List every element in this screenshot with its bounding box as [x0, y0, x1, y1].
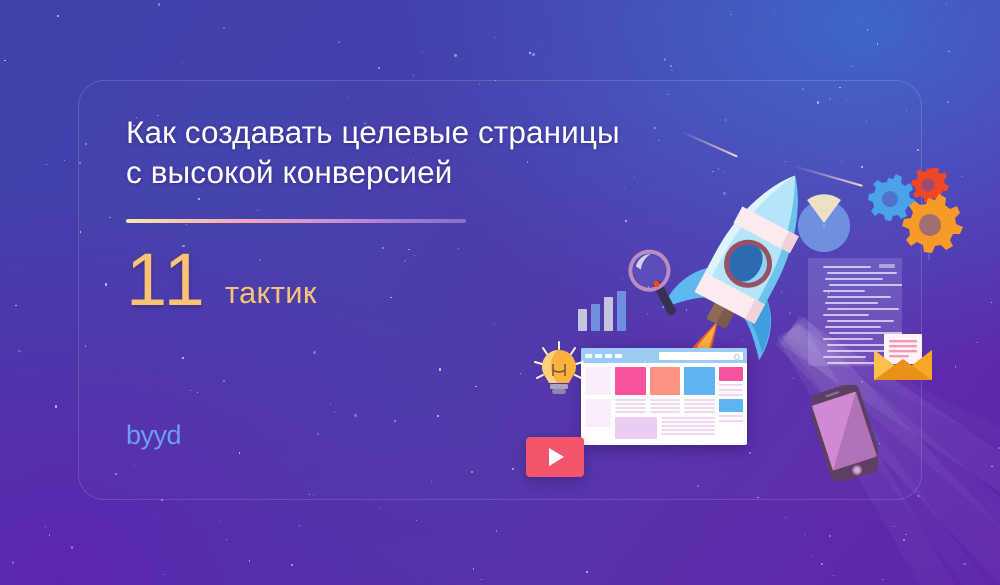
mockup-search-input: [659, 352, 743, 360]
title-line-2: с высокой конверсией: [126, 152, 656, 192]
lightbulb-icon: [528, 340, 590, 402]
play-triangle-icon: [549, 448, 564, 466]
code-line: [825, 278, 883, 280]
code-line: [827, 320, 894, 322]
gradient-divider: [126, 219, 466, 223]
mockup-header: [581, 348, 747, 363]
code-line: [823, 290, 865, 292]
code-line: [825, 302, 878, 304]
mockup-nav-item: [595, 354, 602, 358]
play-button[interactable]: [526, 437, 584, 477]
code-line: [829, 284, 902, 286]
mockup-text-col: [661, 417, 715, 439]
mockup-body: [581, 363, 747, 445]
smartphone-icon: [812, 385, 878, 481]
mockup-nav-item: [605, 354, 612, 358]
tactics-word: тактик: [225, 275, 317, 311]
code-line: [825, 326, 881, 328]
mockup-card: [684, 367, 715, 395]
mockup-thumbnail: [615, 417, 657, 439]
title-line-1: Как создавать целевые страницы: [126, 114, 620, 150]
mockup-text-col: [615, 399, 646, 413]
mockup-card: [615, 367, 646, 395]
tactics-number: 11: [126, 245, 207, 315]
code-panel-tag: [879, 264, 895, 268]
tactics-counter: 11 тактик: [126, 245, 656, 315]
text-block: Как создавать целевые страницы с высокой…: [126, 112, 656, 315]
code-line: [827, 308, 899, 310]
mockup-main: [615, 367, 715, 441]
brand-logo-text: byyd: [126, 420, 181, 451]
code-line: [823, 356, 866, 358]
mockup-nav-item: [615, 354, 622, 358]
code-line: [827, 296, 891, 298]
pie-chart: [793, 192, 855, 254]
mockup-promo: [719, 367, 743, 381]
code-line: [823, 314, 869, 316]
code-line: [823, 266, 871, 268]
landing-page-mockup: [581, 348, 747, 445]
brand-logo[interactable]: byyd: [126, 420, 181, 451]
gears-icon: [862, 168, 968, 260]
poster-canvas: Как создавать целевые страницы с высокой…: [0, 0, 1000, 585]
mockup-text-row: [615, 399, 715, 413]
page-title: Как создавать целевые страницы с высокой…: [126, 112, 656, 192]
mockup-promo: [719, 399, 743, 412]
mockup-text-col: [684, 399, 715, 413]
mockup-wide-row: [615, 417, 715, 439]
mockup-card-row: [615, 367, 715, 395]
mockup-card: [650, 367, 681, 395]
mockup-text-col: [650, 399, 681, 413]
mockup-right-rail: [719, 367, 743, 441]
mockup-sidebar-block: [585, 399, 611, 427]
code-line: [827, 272, 897, 274]
code-line: [823, 338, 873, 340]
envelope-icon: [872, 334, 934, 380]
